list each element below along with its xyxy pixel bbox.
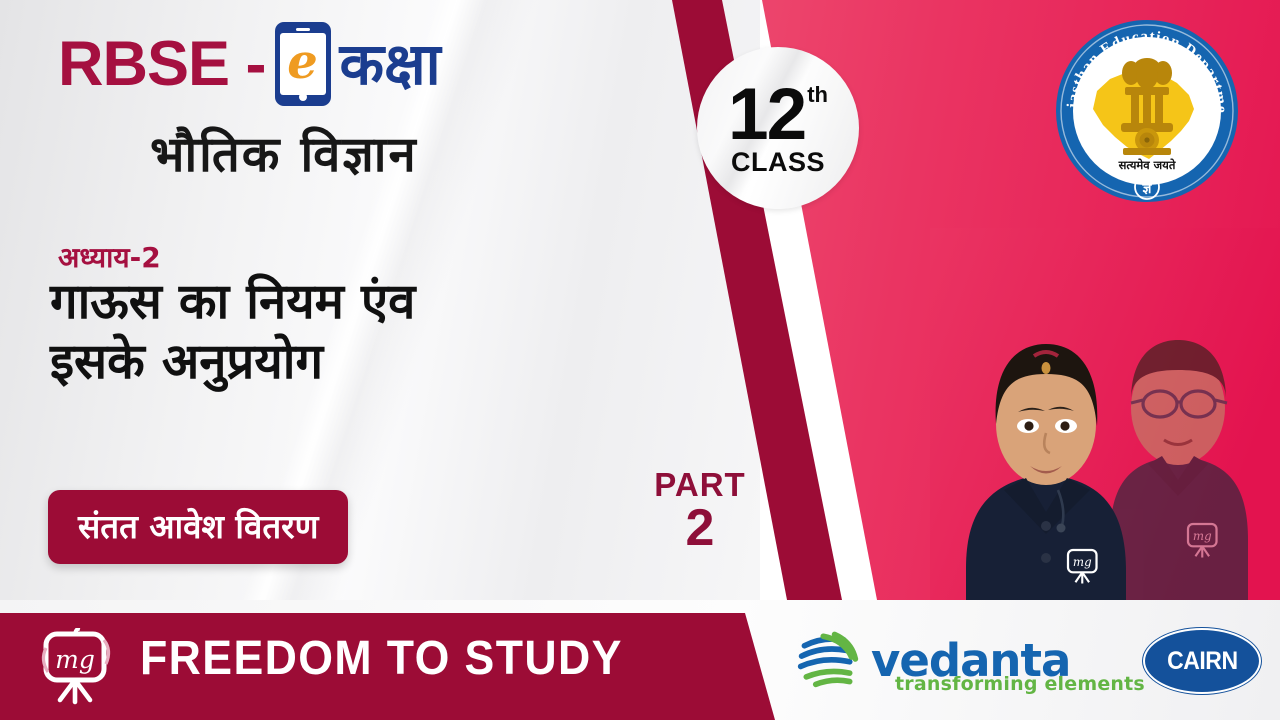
part-label: PART: [640, 468, 760, 501]
vedanta-globe-icon: [795, 625, 861, 696]
svg-text:mg: mg: [1073, 555, 1092, 569]
part-number: 2: [640, 501, 760, 556]
mg-board-logo: mg: [38, 628, 118, 706]
dept-motto: सत्यमेव जयते: [1118, 158, 1176, 172]
chapter-number-label: अध्याय-2: [58, 238, 161, 276]
cairn-wordmark: CAIRN: [1167, 647, 1238, 676]
class-number: 12: [728, 78, 805, 151]
subject-title: भौतिक विज्ञान: [150, 120, 418, 186]
mg-logo-text: mg: [55, 645, 95, 674]
class-ordinal-suffix: th: [807, 84, 828, 106]
chapter-title-line-1: गाऊस का नियम एंव: [50, 272, 670, 332]
cairn-logo: CAIRN: [1143, 628, 1261, 694]
class-word-label: CLASS: [731, 147, 825, 178]
dept-inner-glyph: ज्ञ: [1142, 181, 1153, 197]
class-number-row: 12 th: [728, 78, 828, 151]
rajasthan-education-department-logo: Rajasthan Education Department सत्य: [1053, 17, 1241, 205]
chapter-title-line-2: इसके अनुप्रयोग: [50, 332, 670, 392]
brand-kaksha-text: कक्षा: [340, 35, 441, 93]
brand-lockup: RBSE - e कक्षा: [58, 22, 441, 106]
part-indicator: PART 2: [640, 468, 760, 556]
chapter-title: गाऊस का नियम एंव इसके अनुप्रयोग: [50, 272, 670, 392]
presenter-photos: mg: [930, 228, 1280, 600]
thumbnail-canvas: RBSE - e कक्षा भौतिक विज्ञान अध्याय-2 गा…: [0, 0, 1280, 720]
smartphone-icon: e: [275, 22, 331, 106]
letter-e-glyph: e: [287, 38, 318, 86]
class-badge: 12 th CLASS: [697, 47, 859, 209]
svg-text:mg: mg: [1193, 529, 1212, 543]
smartphone-screen: e: [280, 33, 326, 95]
brand-rbse-text: RBSE -: [58, 33, 266, 96]
topic-badge: संतत आवेश वितरण: [48, 490, 348, 564]
footer-tagline: FREEDOM TO STUDY: [140, 631, 623, 686]
vedanta-tagline: transforming elements: [895, 673, 1145, 695]
